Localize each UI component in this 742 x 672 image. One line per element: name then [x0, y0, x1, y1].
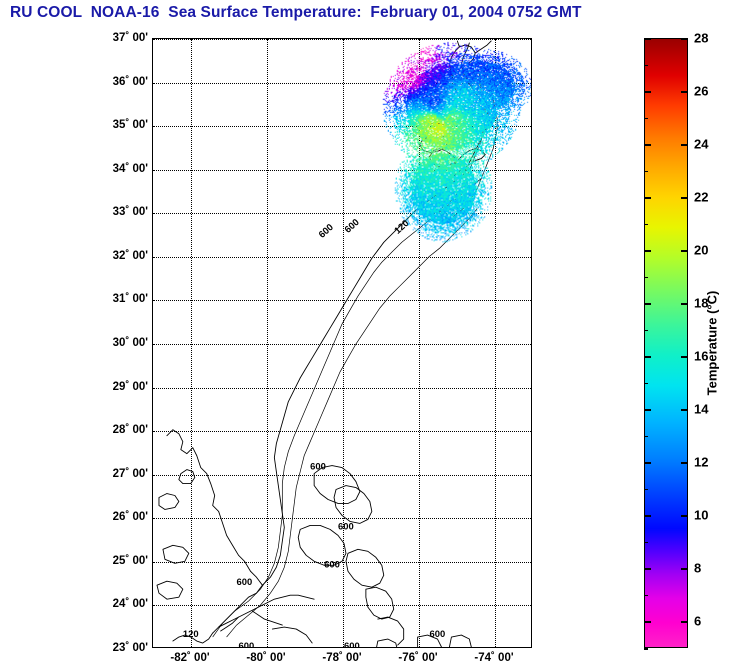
latitude-tick-label: 33˚ 00' — [113, 206, 148, 218]
latitude-tick-label: 31˚ 00' — [113, 293, 148, 305]
longitude-tick-label: -78˚ 00' — [322, 652, 361, 664]
latitude-axis-labels: 23˚ 00'24˚ 00'25˚ 00'26˚ 00'27˚ 00'28˚ 0… — [88, 38, 148, 648]
colorbar-tick-label: 24 — [694, 137, 708, 152]
colorbar-tick-mark — [644, 515, 651, 517]
colorbar-tick-mark — [681, 38, 688, 40]
latitude-tick-label: 32˚ 00' — [113, 250, 148, 262]
colorbar-tick-label: 6 — [694, 614, 701, 629]
colorbar-tick-mark — [681, 409, 688, 411]
colorbar-tick-label: 12 — [694, 455, 708, 470]
colorbar-minor-tick — [644, 436, 648, 438]
colorbar-minor-tick — [644, 171, 648, 173]
colorbar-minor-tick — [644, 489, 648, 491]
sst-data-layer — [153, 39, 531, 647]
temperature-colorbar — [644, 38, 688, 648]
colorbar-tick-mark — [644, 250, 651, 252]
colorbar-tick-label: 28 — [694, 31, 708, 46]
colorbar-tick-mark — [644, 91, 651, 93]
colorbar-tick-mark — [644, 303, 651, 305]
colorbar-tick-mark — [644, 568, 651, 570]
latitude-tick-label: 29˚ 00' — [113, 381, 148, 393]
colorbar-tick-mark — [681, 621, 688, 623]
colorbar-tick-mark — [644, 409, 651, 411]
longitude-axis-labels: -82˚ 00'-80˚ 00'-78˚ 00'-76˚ 00'-74˚ 00' — [152, 652, 532, 670]
map-canvas: 600 600 600 600 600 600 600 600 600 120 … — [153, 39, 531, 647]
latitude-tick-label: 28˚ 00' — [113, 424, 148, 436]
colorbar-tick-mark — [681, 197, 688, 199]
colorbar-tick-mark — [644, 621, 651, 623]
colorbar-minor-tick — [644, 118, 648, 120]
latitude-tick-label: 25˚ 00' — [113, 555, 148, 567]
colorbar-tick-mark — [681, 144, 688, 146]
colorbar-tick-mark — [681, 568, 688, 570]
colorbar-minor-tick — [644, 648, 648, 650]
longitude-tick-label: -76˚ 00' — [398, 652, 437, 664]
colorbar-tick-label: 20 — [694, 243, 708, 258]
colorbar-tick-mark — [681, 462, 688, 464]
colorbar-tick-label: 26 — [694, 84, 708, 99]
colorbar-tick-mark — [644, 462, 651, 464]
latitude-tick-label: 26˚ 00' — [113, 511, 148, 523]
latitude-tick-label: 27˚ 00' — [113, 468, 148, 480]
latitude-tick-label: 30˚ 00' — [113, 337, 148, 349]
latitude-tick-label: 37˚ 00' — [113, 32, 148, 44]
colorbar-minor-tick — [644, 542, 648, 544]
colorbar-tick-mark — [681, 356, 688, 358]
colorbar-tick-mark — [644, 144, 651, 146]
colorbar-tick-mark — [681, 515, 688, 517]
colorbar-tick-mark — [644, 38, 651, 40]
colorbar-minor-tick — [644, 224, 648, 226]
colorbar-tick-mark — [681, 303, 688, 305]
colorbar-tick-label: 22 — [694, 190, 708, 205]
sst-map-plot: 600 600 600 600 600 600 600 600 600 120 … — [152, 38, 532, 648]
colorbar-minor-tick — [644, 65, 648, 67]
colorbar-tick-mark — [644, 197, 651, 199]
page-title: RU COOL NOAA-16 Sea Surface Temperature:… — [10, 4, 582, 22]
latitude-tick-label: 24˚ 00' — [113, 598, 148, 610]
colorbar-tick-mark — [644, 356, 651, 358]
colorbar-minor-tick — [644, 330, 648, 332]
latitude-tick-label: 23˚ 00' — [113, 642, 148, 654]
colorbar-tick-label: 8 — [694, 561, 701, 576]
colorbar-tick-label: 10 — [694, 508, 708, 523]
latitude-tick-label: 35˚ 00' — [113, 119, 148, 131]
longitude-tick-label: -74˚ 00' — [474, 652, 513, 664]
colorbar-tick-mark — [681, 91, 688, 93]
colorbar-tick-label: 14 — [694, 402, 708, 417]
latitude-tick-label: 34˚ 00' — [113, 163, 148, 175]
longitude-tick-label: -82˚ 00' — [170, 652, 209, 664]
colorbar-tick-mark — [681, 250, 688, 252]
colorbar-minor-tick — [644, 595, 648, 597]
colorbar-minor-tick — [644, 383, 648, 385]
latitude-tick-label: 36˚ 00' — [113, 76, 148, 88]
longitude-tick-label: -80˚ 00' — [246, 652, 285, 664]
colorbar-minor-tick — [644, 277, 648, 279]
colorbar-axis-label: Temperature (°C) — [705, 291, 720, 396]
